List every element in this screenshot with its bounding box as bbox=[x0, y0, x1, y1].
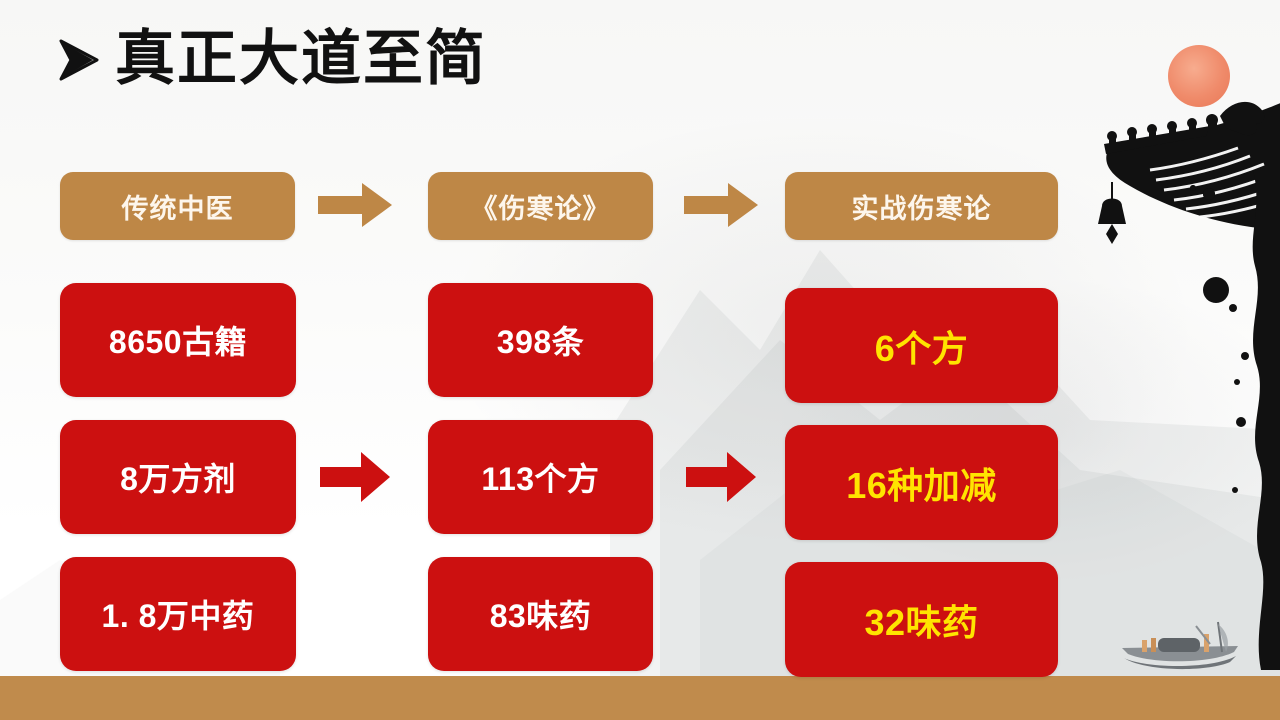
cell-r3-c3[interactable]: 32味药 bbox=[785, 562, 1058, 677]
arrow-right-red-icon bbox=[320, 452, 390, 502]
header-arrow-1 bbox=[318, 183, 392, 227]
arrow-right-tan-icon bbox=[318, 183, 392, 227]
header-box-1[interactable]: 传统中医 bbox=[60, 172, 295, 240]
page-title: 真正大道至简 bbox=[55, 28, 487, 91]
cell-r2-c1[interactable]: 8万方剂 bbox=[60, 420, 296, 534]
slide-canvas: 真正大道至简 传统中医 《伤寒论》 实战伤寒论 8650古籍 398条 6个方 … bbox=[0, 0, 1280, 720]
sun-icon bbox=[1168, 45, 1230, 107]
temple-roof-icon bbox=[1060, 20, 1280, 310]
row-arrow-1 bbox=[320, 452, 390, 502]
cell-r1-c1[interactable]: 8650古籍 bbox=[60, 283, 296, 397]
row-arrow-2 bbox=[686, 452, 756, 502]
cell-r3-c1[interactable]: 1. 8万中药 bbox=[60, 557, 296, 671]
header-box-2[interactable]: 《伤寒论》 bbox=[428, 172, 653, 240]
header-box-3[interactable]: 实战伤寒论 bbox=[785, 172, 1058, 240]
page-title-text: 真正大道至简 bbox=[115, 28, 487, 91]
arrow-right-tan-icon bbox=[684, 183, 758, 227]
cell-r2-c3[interactable]: 16种加减 bbox=[785, 425, 1058, 540]
cell-r2-c2[interactable]: 113个方 bbox=[428, 420, 653, 534]
arrow-right-red-icon bbox=[686, 452, 756, 502]
cell-r3-c2[interactable]: 83味药 bbox=[428, 557, 653, 671]
boat-icon bbox=[1118, 614, 1248, 676]
cell-r1-c3[interactable]: 6个方 bbox=[785, 288, 1058, 403]
cell-r1-c2[interactable]: 398条 bbox=[428, 283, 653, 397]
ink-splatter-icon bbox=[1175, 170, 1280, 670]
header-arrow-2 bbox=[684, 183, 758, 227]
arrowhead-bullet-icon bbox=[55, 31, 101, 89]
bottom-color-bar bbox=[0, 676, 1280, 720]
